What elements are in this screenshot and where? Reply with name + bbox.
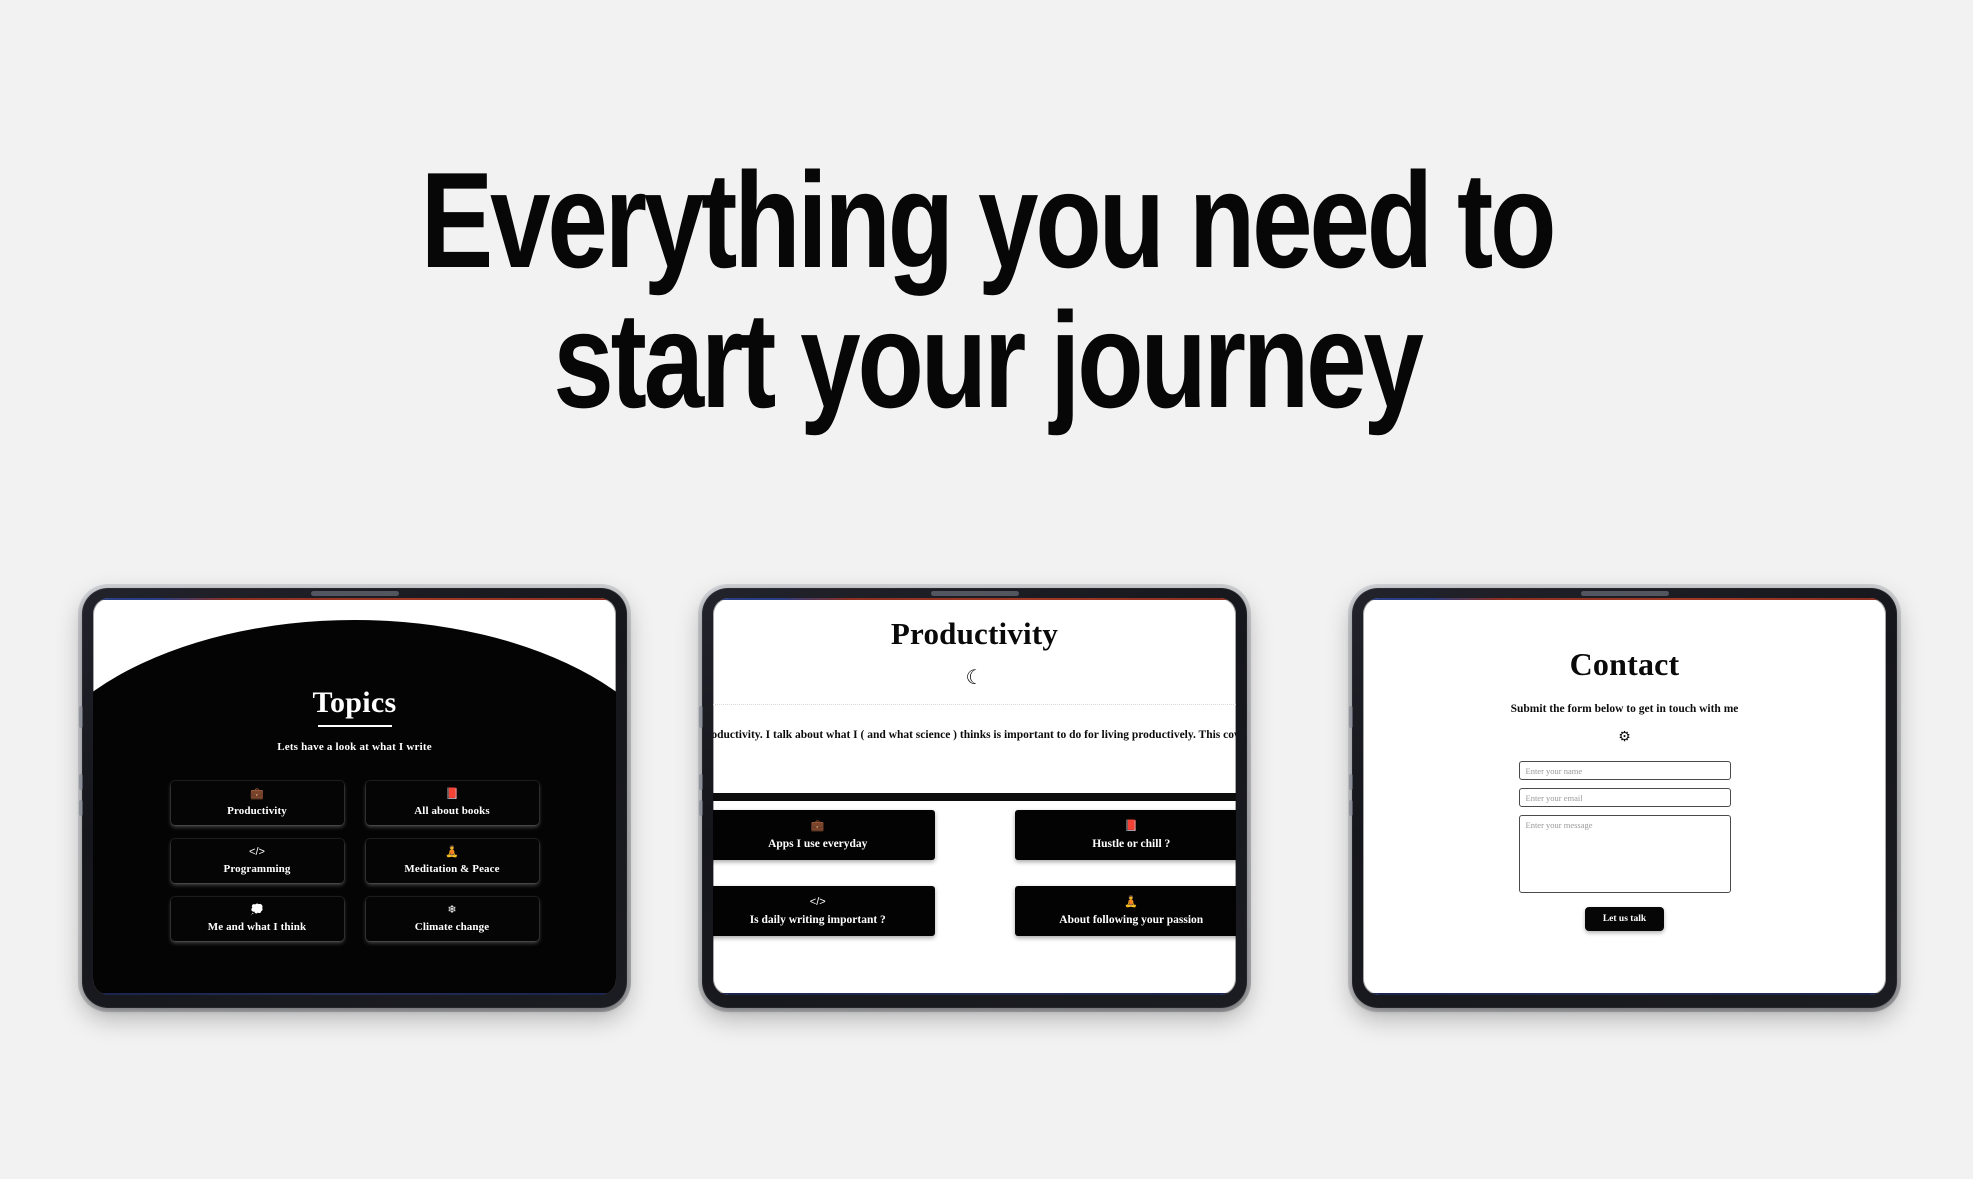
article-card-about-following-your-passion[interactable]: 🧘 About following your passion	[1015, 886, 1237, 936]
screen-productivity: Productivity ☾ This section is dedicated…	[713, 598, 1236, 995]
section-divider	[713, 704, 1236, 705]
article-card-label: Is daily writing important ?	[750, 914, 886, 926]
speaker-slot	[1581, 591, 1669, 596]
speaker-slot	[311, 591, 399, 596]
volume-up-button[interactable]	[1349, 774, 1353, 790]
contact-subtitle: Submit the form below to get in touch wi…	[1511, 703, 1739, 715]
topic-card-label: Me and what I think	[208, 921, 306, 933]
volume-up-button[interactable]	[699, 774, 703, 790]
topic-card-label: Programming	[224, 863, 291, 875]
tablet-showcase-row: Topics Lets have a look at what I write …	[0, 588, 1973, 1018]
productivity-card-grid: 💼 Apps I use everyday 📕 Hustle or chill …	[713, 810, 1236, 936]
topic-card-label: Meditation & Peace	[404, 863, 499, 875]
tablet-device-productivity: Productivity ☾ This section is dedicated…	[702, 588, 1247, 1008]
crescent-moon-icon: ☾	[713, 668, 1236, 688]
volume-down-button[interactable]	[1349, 800, 1353, 816]
topics-card-grid: 💼 Productivity 📕 All about books </> Pro…	[171, 781, 539, 941]
topic-card-meditation-and-peace[interactable]: 🧘 Meditation & Peace	[366, 839, 539, 883]
topic-card-label: All about books	[414, 805, 489, 817]
code-icon: </>	[249, 847, 265, 858]
name-input[interactable]	[1519, 761, 1731, 780]
email-input[interactable]	[1519, 788, 1731, 807]
gear-icon: ⚙	[1618, 729, 1631, 743]
topic-card-climate-change[interactable]: ❄ Climate change	[366, 897, 539, 941]
page-headline: Everything you need to start your journe…	[347, 0, 1627, 430]
message-textarea[interactable]	[1519, 815, 1731, 893]
volume-down-button[interactable]	[79, 800, 83, 816]
screen-contact: Contact Submit the form below to get in …	[1363, 598, 1886, 995]
snowflake-icon: ❄	[447, 905, 456, 916]
contact-title: Contact	[1570, 646, 1680, 683]
productivity-title: Productivity	[713, 616, 1236, 652]
briefcase-icon: 💼	[250, 789, 264, 800]
topic-card-label: Productivity	[227, 805, 287, 817]
article-card-label: Apps I use everyday	[768, 838, 867, 850]
book-icon: 📕	[445, 789, 459, 800]
dark-separator-band	[713, 793, 1236, 801]
article-card-hustle-or-chill[interactable]: 📕 Hustle or chill ?	[1015, 810, 1237, 860]
book-icon: 📕	[1124, 821, 1138, 832]
power-button[interactable]	[699, 706, 703, 728]
article-card-label: About following your passion	[1059, 914, 1203, 926]
topics-subtitle: Lets have a look at what I write	[277, 741, 432, 753]
title-underline	[318, 725, 392, 727]
article-card-label: Hustle or chill ?	[1092, 838, 1170, 850]
contact-form: Let us talk	[1519, 761, 1731, 931]
topic-card-programming[interactable]: </> Programming	[171, 839, 344, 883]
topic-card-label: Climate change	[415, 921, 489, 933]
topic-card-all-about-books[interactable]: 📕 All about books	[366, 781, 539, 825]
power-button[interactable]	[1349, 706, 1353, 728]
topic-card-me-and-what-i-think[interactable]: 💭 Me and what I think	[171, 897, 344, 941]
speaker-slot	[931, 591, 1019, 596]
briefcase-icon: 💼	[811, 821, 825, 832]
headline-line-2: start your journey	[347, 290, 1627, 430]
headline-line-1: Everything you need to	[347, 150, 1627, 290]
meditation-icon: 🧘	[445, 847, 459, 858]
volume-up-button[interactable]	[79, 774, 83, 790]
submit-button[interactable]: Let us talk	[1585, 907, 1664, 931]
speech-bubble-icon: 💭	[250, 905, 264, 916]
meditation-icon: 🧘	[1124, 897, 1138, 908]
article-card-is-daily-writing-important[interactable]: </> Is daily writing important ?	[713, 886, 935, 936]
topic-card-productivity[interactable]: 💼 Productivity	[171, 781, 344, 825]
article-card-apps-i-use-everyday[interactable]: 💼 Apps I use everyday	[713, 810, 935, 860]
screen-topics: Topics Lets have a look at what I write …	[93, 598, 616, 995]
power-button[interactable]	[79, 706, 83, 728]
productivity-paragraph: This section is dedicated to all the stu…	[713, 721, 1236, 777]
code-icon: </>	[810, 897, 826, 908]
tablet-device-contact: Contact Submit the form below to get in …	[1352, 588, 1897, 1008]
volume-down-button[interactable]	[699, 800, 703, 816]
tablet-device-topics: Topics Lets have a look at what I write …	[82, 588, 627, 1008]
topics-title: Topics	[312, 686, 396, 720]
